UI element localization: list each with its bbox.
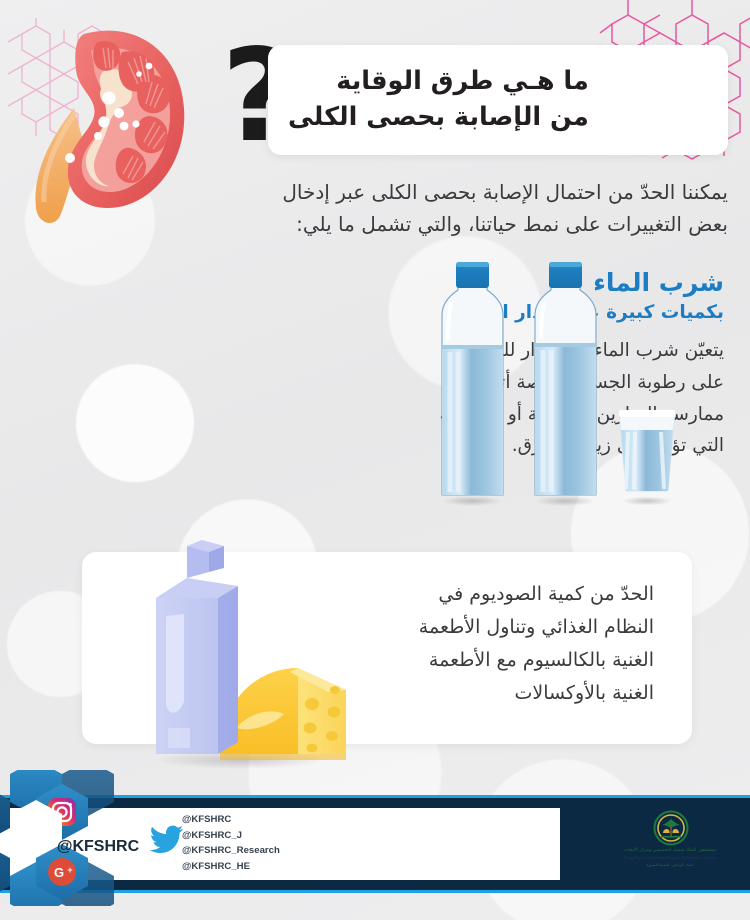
intro-paragraph: يمكننا الحدّ من احتمال الإصابة بحصى الكل… — [168, 176, 728, 241]
logo-tagline: جـدة - الريـاض - المدينـة المنـورة — [600, 863, 740, 867]
handle-item: @KFSHRC — [182, 812, 412, 828]
logo-english-name: King Faisal Specialist Hospital & Resear… — [600, 855, 740, 861]
svg-text:+: + — [67, 865, 72, 875]
infographic-page: ؟ ما هـي طرق الوقاية من الإصابة بحصى الك… — [0, 0, 750, 920]
footer: G + @KFSHRC @KFSHRC @KFSHRC_J @KFSHRC_Re… — [0, 782, 750, 906]
logo-arabic-name: مستشفى الملك فيصل التخصصي ومركز الأبحاث — [600, 848, 740, 854]
hospital-logo: مستشفى الملك فيصل التخصصي ومركز الأبحاث … — [600, 812, 740, 876]
title-card: ما هـي طرق الوقاية من الإصابة بحصى الكلى — [268, 45, 728, 155]
svg-text:G: G — [54, 865, 64, 880]
page-title: ما هـي طرق الوقاية من الإصابة بحصى الكلى — [288, 63, 589, 135]
handle-item: @KFSHRC_J — [182, 828, 412, 844]
water-bottles-illustration — [425, 252, 737, 517]
milk-and-cheese-illustration — [132, 532, 382, 772]
handle-item: @KFSHRC_HE — [182, 859, 412, 875]
handle-item: @KFSHRC_Research — [182, 843, 412, 859]
logo-emblem-icon — [653, 810, 689, 846]
brand-handle: @KFSHRC — [38, 838, 158, 856]
social-handles-list: @KFSHRC @KFSHRC_J @KFSHRC_Research @KFSH… — [182, 812, 412, 874]
